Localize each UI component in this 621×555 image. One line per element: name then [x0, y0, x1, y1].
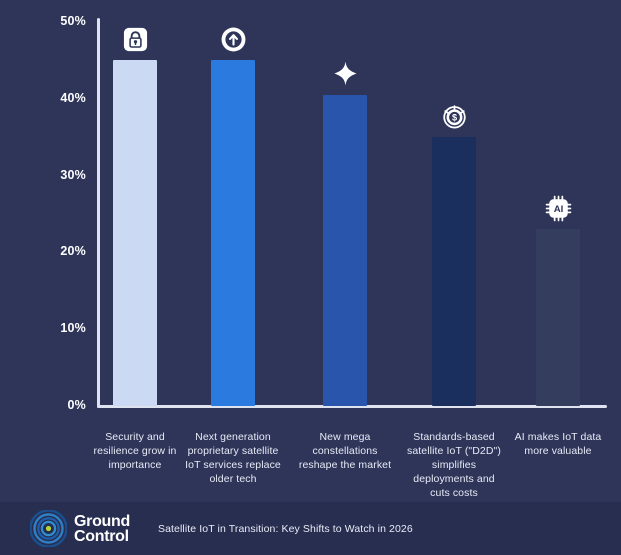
- category-label-line: cuts costs: [399, 486, 509, 500]
- svg-text:$: $: [451, 112, 456, 122]
- ground-control-logo-icon: [30, 510, 67, 547]
- bar-2[interactable]: [211, 60, 255, 406]
- category-label-line: New mega: [290, 430, 400, 444]
- bar-column-4[interactable]: $: [432, 102, 476, 406]
- bar-column-1[interactable]: [113, 25, 157, 406]
- logo-line-2: Control: [74, 529, 130, 544]
- category-label-line: AI makes IoT data: [504, 430, 612, 444]
- bar-chart-figure: 0%10%20%30%40%50% $AI Security andresili…: [0, 0, 621, 555]
- footer-caption: Satellite IoT in Transition: Key Shifts …: [158, 523, 413, 535]
- category-label-4: Standards-basedsatellite IoT ("D2D")simp…: [399, 430, 509, 500]
- cost-target-icon: $: [440, 102, 468, 130]
- category-label-line: deployments and: [399, 472, 509, 486]
- bar-4[interactable]: [432, 137, 476, 406]
- bar-1[interactable]: [113, 60, 157, 406]
- category-label-5: AI makes IoT datamore valuable: [504, 430, 612, 458]
- category-label-line: reshape the market: [290, 458, 400, 472]
- logo: Ground Control: [30, 510, 130, 547]
- bar-column-3[interactable]: [323, 60, 367, 406]
- category-label-line: older tech: [178, 472, 288, 486]
- x-axis-category-labels: Security andresilience grow inimportance…: [0, 430, 621, 500]
- category-label-line: constellations: [290, 444, 400, 458]
- bar-3[interactable]: [323, 95, 367, 406]
- category-label-3: New megaconstellationsreshape the market: [290, 430, 400, 472]
- category-label-line: Security and: [87, 430, 183, 444]
- bar-column-2[interactable]: [211, 25, 255, 406]
- category-label-1: Security andresilience grow inimportance: [87, 430, 183, 472]
- plot-area: 0%10%20%30%40%50% $AI: [0, 0, 621, 420]
- category-label-line: importance: [87, 458, 183, 472]
- category-label-line: Standards-based: [399, 430, 509, 444]
- bars-layer: $AI: [0, 0, 621, 420]
- category-label-line: satellite IoT ("D2D"): [399, 444, 509, 458]
- category-label-line: IoT services replace: [178, 458, 288, 472]
- logo-line-1: Ground: [74, 514, 130, 529]
- ai-chip-icon: AI: [544, 194, 572, 222]
- lock-icon: [121, 25, 149, 53]
- bar-5[interactable]: [536, 229, 580, 406]
- category-label-2: Next generationproprietary satelliteIoT …: [178, 430, 288, 486]
- bar-column-5[interactable]: AI: [536, 194, 580, 406]
- category-label-line: more valuable: [504, 444, 612, 458]
- svg-text:AI: AI: [553, 204, 563, 215]
- category-label-line: resilience grow in: [87, 444, 183, 458]
- category-label-line: Next generation: [178, 430, 288, 444]
- category-label-line: simplifies: [399, 458, 509, 472]
- category-label-line: proprietary satellite: [178, 444, 288, 458]
- logo-wordmark: Ground Control: [74, 514, 130, 544]
- footer-bar: Ground Control Satellite IoT in Transiti…: [0, 502, 621, 555]
- sparkle-icon: [331, 60, 359, 88]
- arrow-up-circle-icon: [219, 25, 247, 53]
